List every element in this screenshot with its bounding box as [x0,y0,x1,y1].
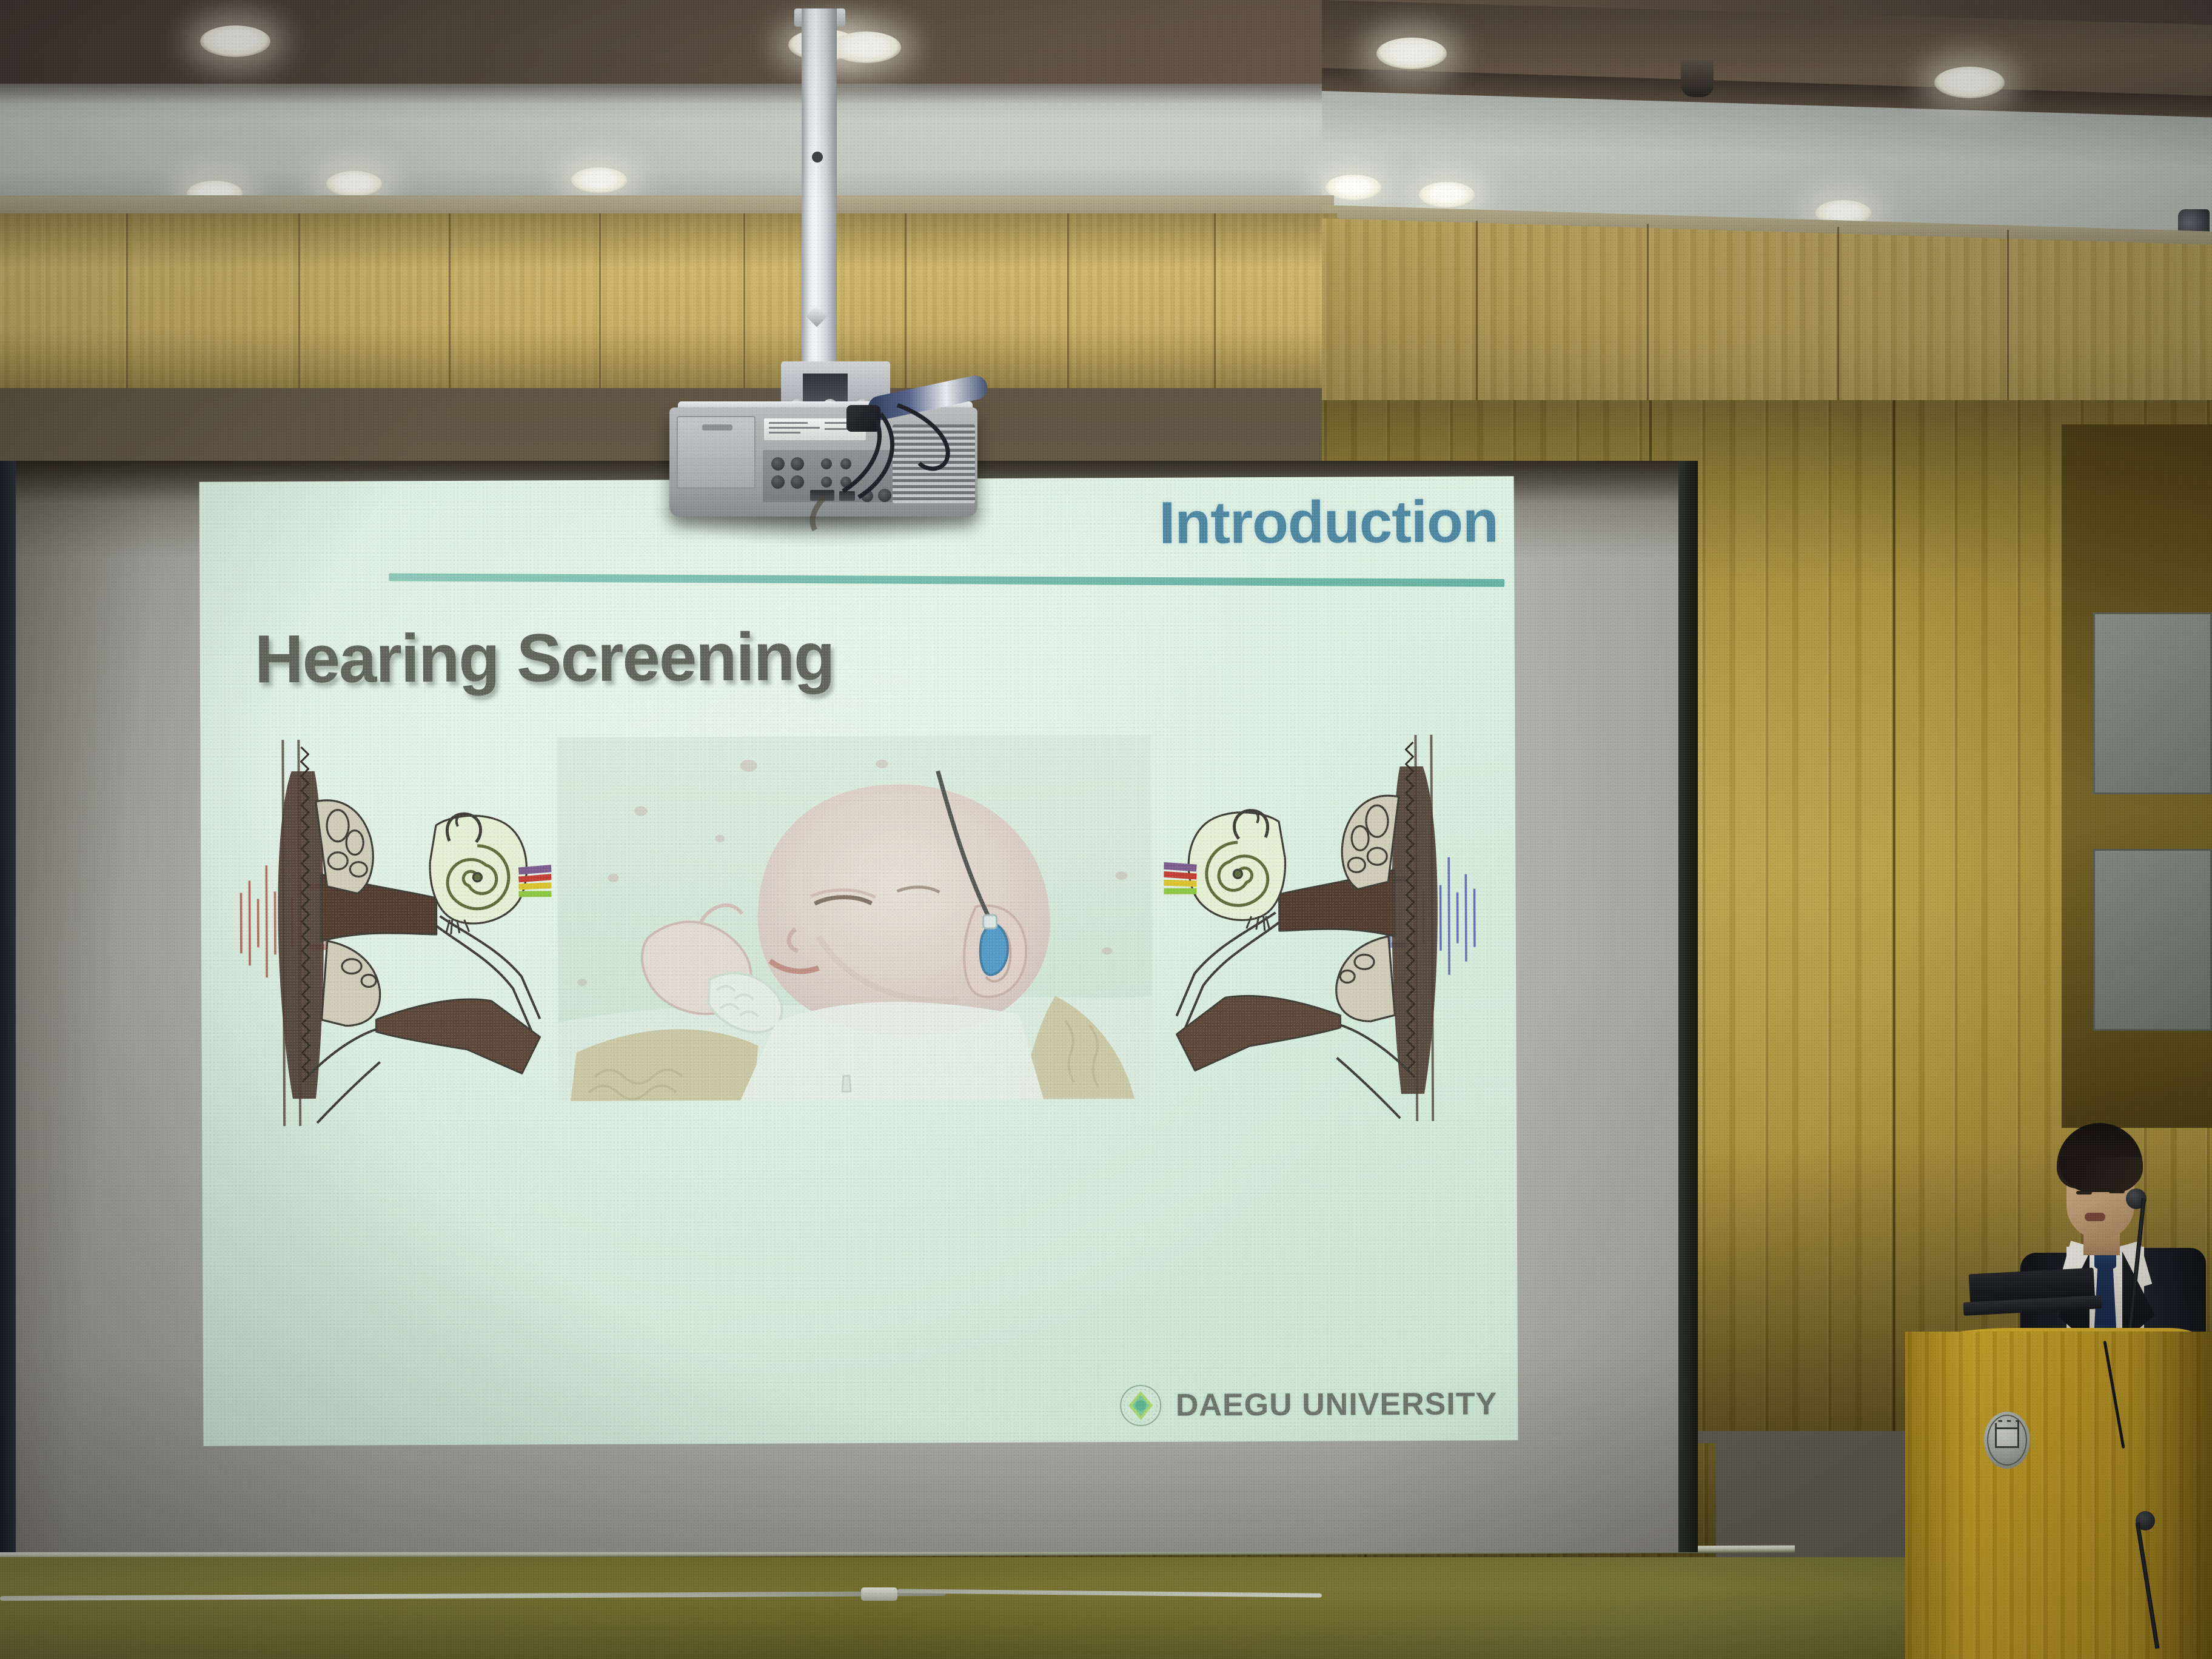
projected-slide: Introduction Hearing Screening [199,476,1518,1446]
wood-panel-seam [1647,224,1649,424]
screen-left-edge [0,461,16,1552]
downlight [1419,182,1475,207]
downlight [831,32,901,63]
ceiling-sprinkler-head [1681,59,1714,97]
wood-panel-seam [743,213,745,395]
wood-panel-seam [905,213,907,395]
pole-bolt [812,152,823,163]
lectern-shading [1905,1332,2212,1659]
screen-right-edge [1678,461,1698,1552]
projector-lamp-door-tab [702,424,732,431]
wall-panel-inset [2093,849,2212,1031]
wall-panel-inset [2093,612,2212,794]
wood-panel-seam [1476,221,1478,421]
wood-panel-seam [298,213,300,395]
wood-panel-seam [599,213,601,395]
floor-cable-connector [861,1587,897,1601]
projector-cables [752,400,1007,534]
presenter-mouth [2085,1213,2105,1221]
downlight [1934,67,2005,98]
projector-drop-pole [802,8,837,384]
seal-book-motif [1995,1427,2019,1448]
upper-wood-shading [0,213,1337,395]
auditorium-photo: Introduction Hearing Screening [0,0,2212,1659]
wood-panel-seam [1214,213,1216,395]
downlight [1376,38,1447,69]
slide-projection-grain [199,476,1518,1446]
right-wall-seam [1893,400,1895,1431]
wood-panel-seam [1837,227,1839,427]
downlight [200,25,270,57]
wood-panel-seam [126,213,128,395]
wood-panel-seam [1067,213,1069,395]
downlight [326,171,382,196]
downlight [571,167,627,193]
stage-floor-sheen [0,1557,2212,1659]
university-seal-emblem [1984,1412,2030,1469]
wood-panel-seam [449,213,451,395]
